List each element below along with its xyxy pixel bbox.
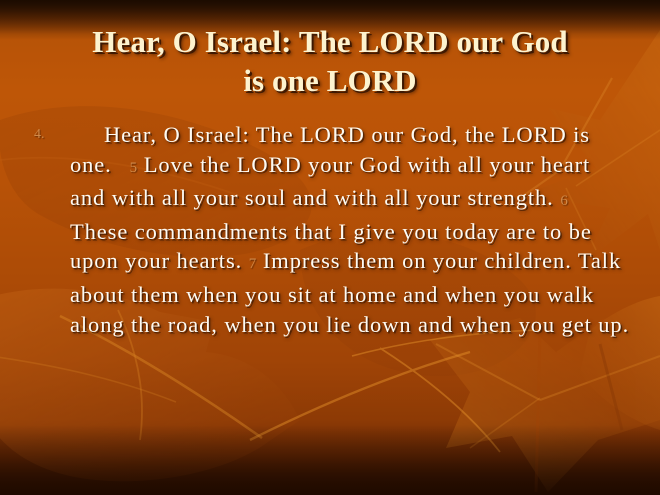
presentation-slide: Hear, O Israel: The LORD our God is one … [0, 0, 660, 495]
scripture-text: Hear, O Israel: The LORD our God, the LO… [70, 120, 630, 339]
verse-number-6: 6 [559, 193, 569, 209]
leaf-cluster-lower-right [430, 318, 660, 492]
bottom-vignette [0, 425, 660, 495]
leaf-stem-lines [250, 330, 540, 452]
slide-body: 4. Hear, O Israel: The LORD our God, the… [34, 120, 630, 339]
bullet-number: 4. [34, 120, 70, 150]
verse-number-5: 5 [129, 160, 139, 176]
verse-number-7: 7 [248, 256, 258, 272]
title-line-2: is one LORD [26, 61, 634, 100]
scripture-segment-2: Love the LORD your God with all your hea… [70, 152, 590, 211]
slide-title: Hear, O Israel: The LORD our God is one … [26, 22, 634, 100]
title-line-1: Hear, O Israel: The LORD our God [26, 22, 634, 61]
